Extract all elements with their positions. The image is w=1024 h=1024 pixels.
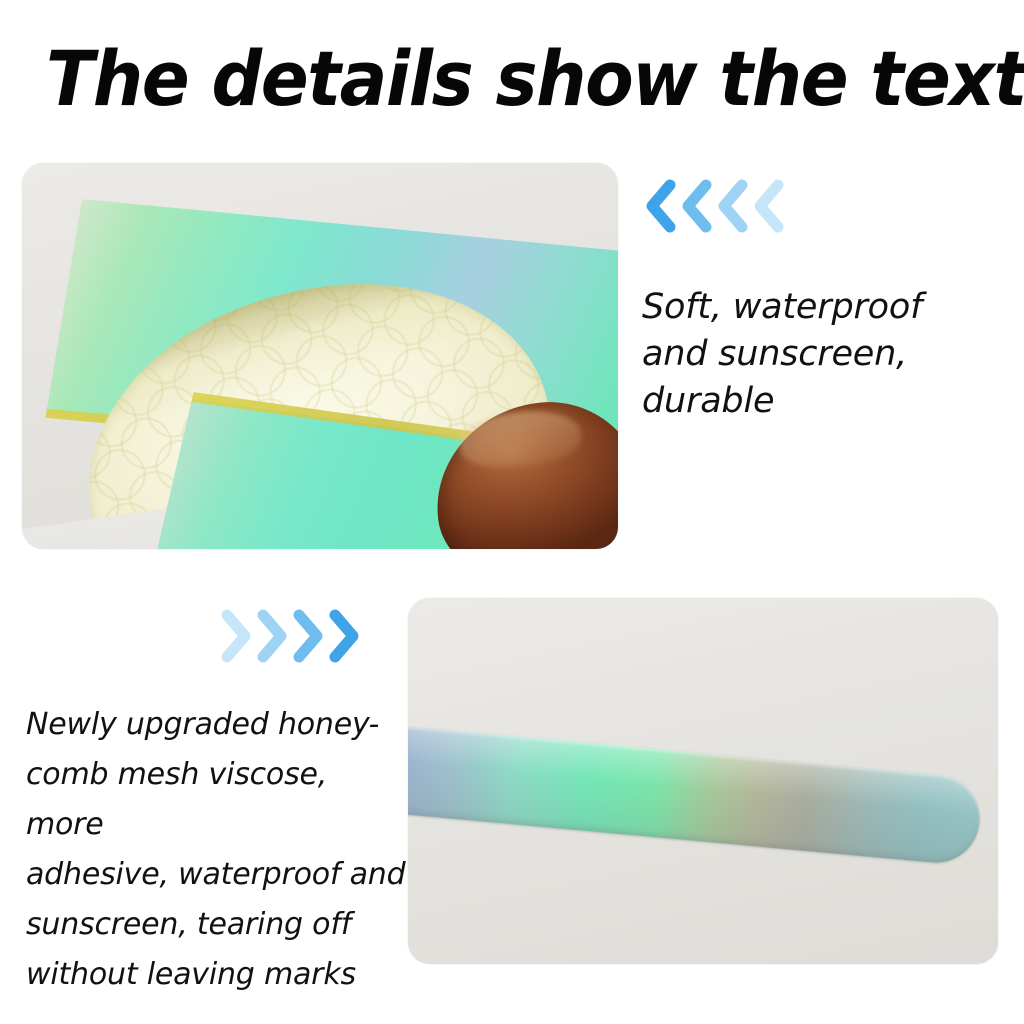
chevron-right-icon	[287, 608, 327, 664]
chevron-right-icon	[251, 608, 291, 664]
callout-text-soft-waterproof: Soft, waterproof and sunscreen, durable	[642, 284, 998, 425]
chevron-right-icon	[215, 608, 255, 664]
chevron-group-left	[640, 178, 784, 234]
chevron-group-right	[215, 608, 359, 664]
chevron-right-icon	[323, 608, 363, 664]
chevron-left-icon	[748, 178, 788, 234]
product-photo-looped-tape	[22, 163, 618, 549]
product-photo-tape-strip	[408, 598, 998, 964]
chevron-left-icon	[640, 178, 680, 234]
infographic-page: The details show the texture Soft, wate	[0, 0, 1024, 1024]
callout-text-honeycomb-mesh: Newly upgraded honey- comb mesh viscose,…	[26, 700, 406, 1000]
chevron-left-icon	[712, 178, 752, 234]
chevron-left-icon	[676, 178, 716, 234]
page-title: The details show the texture	[46, 38, 920, 120]
